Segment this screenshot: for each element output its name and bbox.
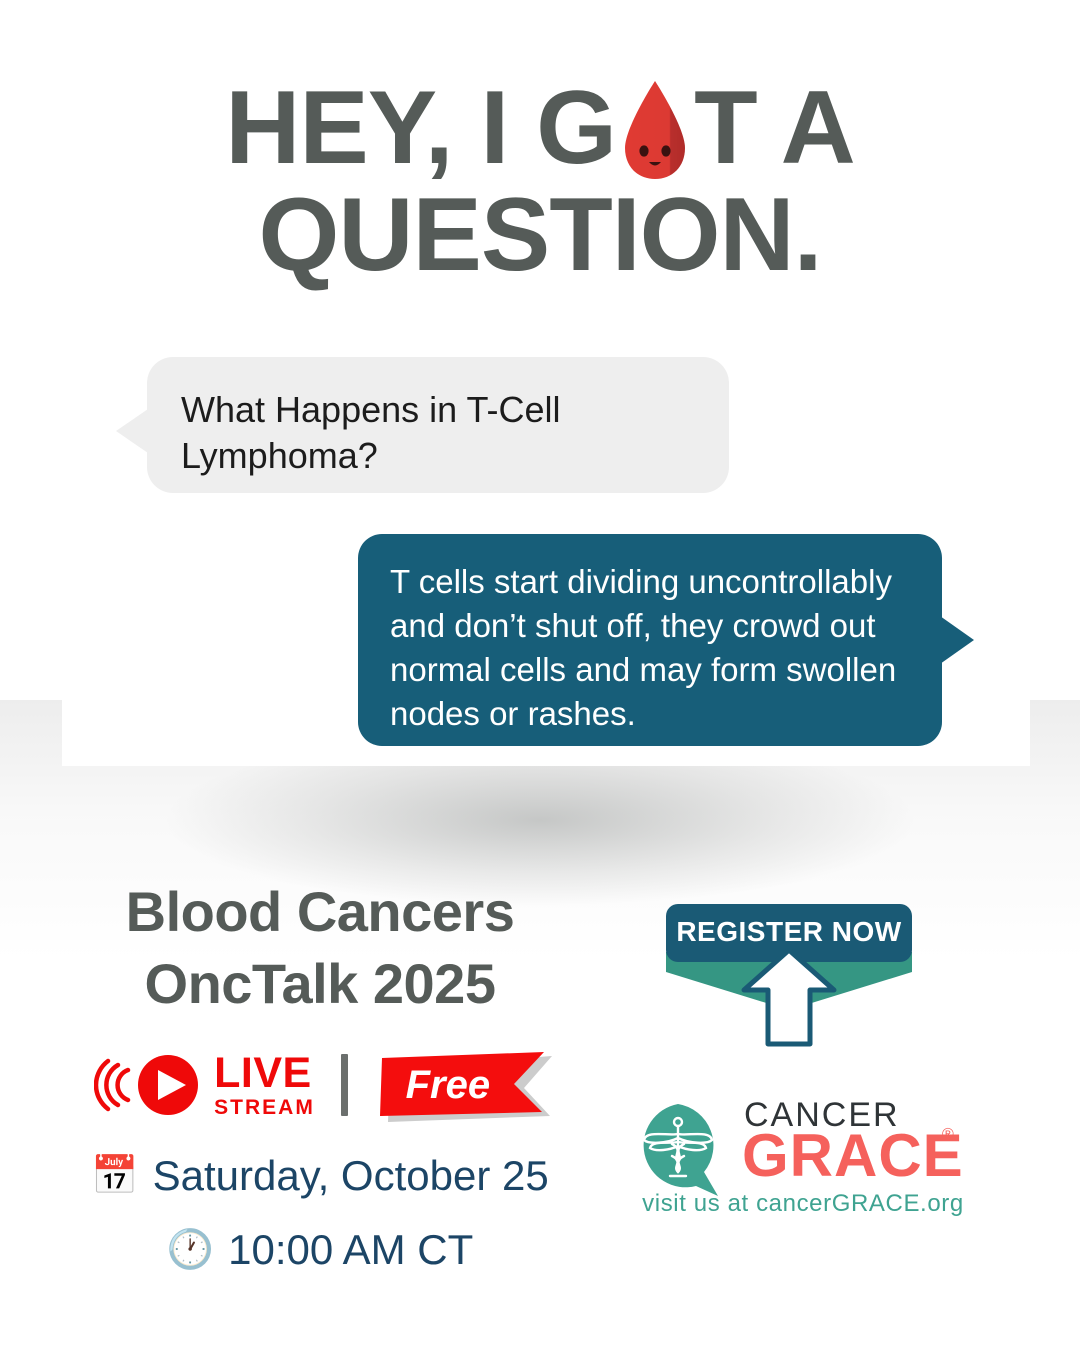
free-label: Free <box>374 1052 546 1118</box>
poster-canvas: HEY, I G T A QUESTION. What Happens in <box>0 0 1080 1350</box>
event-title-line-1: Blood Cancers <box>40 876 600 948</box>
live-stream-label: LIVE STREAM <box>214 1052 315 1118</box>
badges-row: LIVE STREAM Free <box>40 1042 600 1128</box>
answer-text: T cells start dividing uncontrollably an… <box>390 563 896 732</box>
badge-divider <box>341 1054 348 1116</box>
caduceus-speech-bubble-icon <box>632 1100 732 1200</box>
page-title: HEY, I G T A QUESTION. <box>0 78 1080 286</box>
question-bubble-tail <box>116 409 148 453</box>
question-bubble: What Happens in T-Cell Lymphoma? <box>147 357 729 493</box>
headline-line-1: HEY, I G T A <box>0 78 1080 185</box>
event-date-row: 📅 Saturday, October 25 <box>40 1152 600 1200</box>
event-time-row: 🕐 10:00 AM CT <box>40 1226 600 1274</box>
blood-drop-mascot-icon <box>616 81 694 185</box>
headline-text-before-drop: HEY, I G <box>225 70 616 186</box>
calendar-icon: 📅 <box>91 1157 138 1195</box>
register-now-button[interactable]: REGISTER NOW <box>660 898 918 1048</box>
event-time: 10:00 AM CT <box>228 1226 473 1274</box>
live-stream-badge: LIVE STREAM <box>94 1049 315 1121</box>
headline-line-2: QUESTION. <box>0 185 1080 286</box>
brand-word-grace: GRACE <box>742 1126 964 1186</box>
headline-text-after-drop: T A <box>694 70 855 186</box>
brand-tagline: visit us at cancerGRACE.org <box>638 1190 968 1218</box>
live-label: LIVE <box>214 1052 315 1095</box>
register-now-label: REGISTER NOW <box>660 916 918 948</box>
event-title: Blood Cancers OncTalk 2025 <box>40 876 600 1019</box>
event-date: Saturday, October 25 <box>153 1152 549 1200</box>
free-badge: Free <box>374 1052 546 1118</box>
question-text: What Happens in T-Cell Lymphoma? <box>181 389 561 476</box>
stream-label: STREAM <box>214 1097 315 1118</box>
answer-bubble-tail <box>940 616 974 664</box>
cancergrace-logo[interactable]: CANCER GRACE ® visit us at cancerGRACE.o… <box>632 1098 962 1208</box>
registered-trademark-mark: ® <box>942 1126 954 1144</box>
clock-icon: 🕐 <box>167 1231 214 1269</box>
event-title-line-2: OncTalk 2025 <box>40 948 600 1020</box>
answer-bubble: T cells start dividing uncontrollably an… <box>358 534 942 746</box>
live-stream-icon <box>94 1049 206 1121</box>
